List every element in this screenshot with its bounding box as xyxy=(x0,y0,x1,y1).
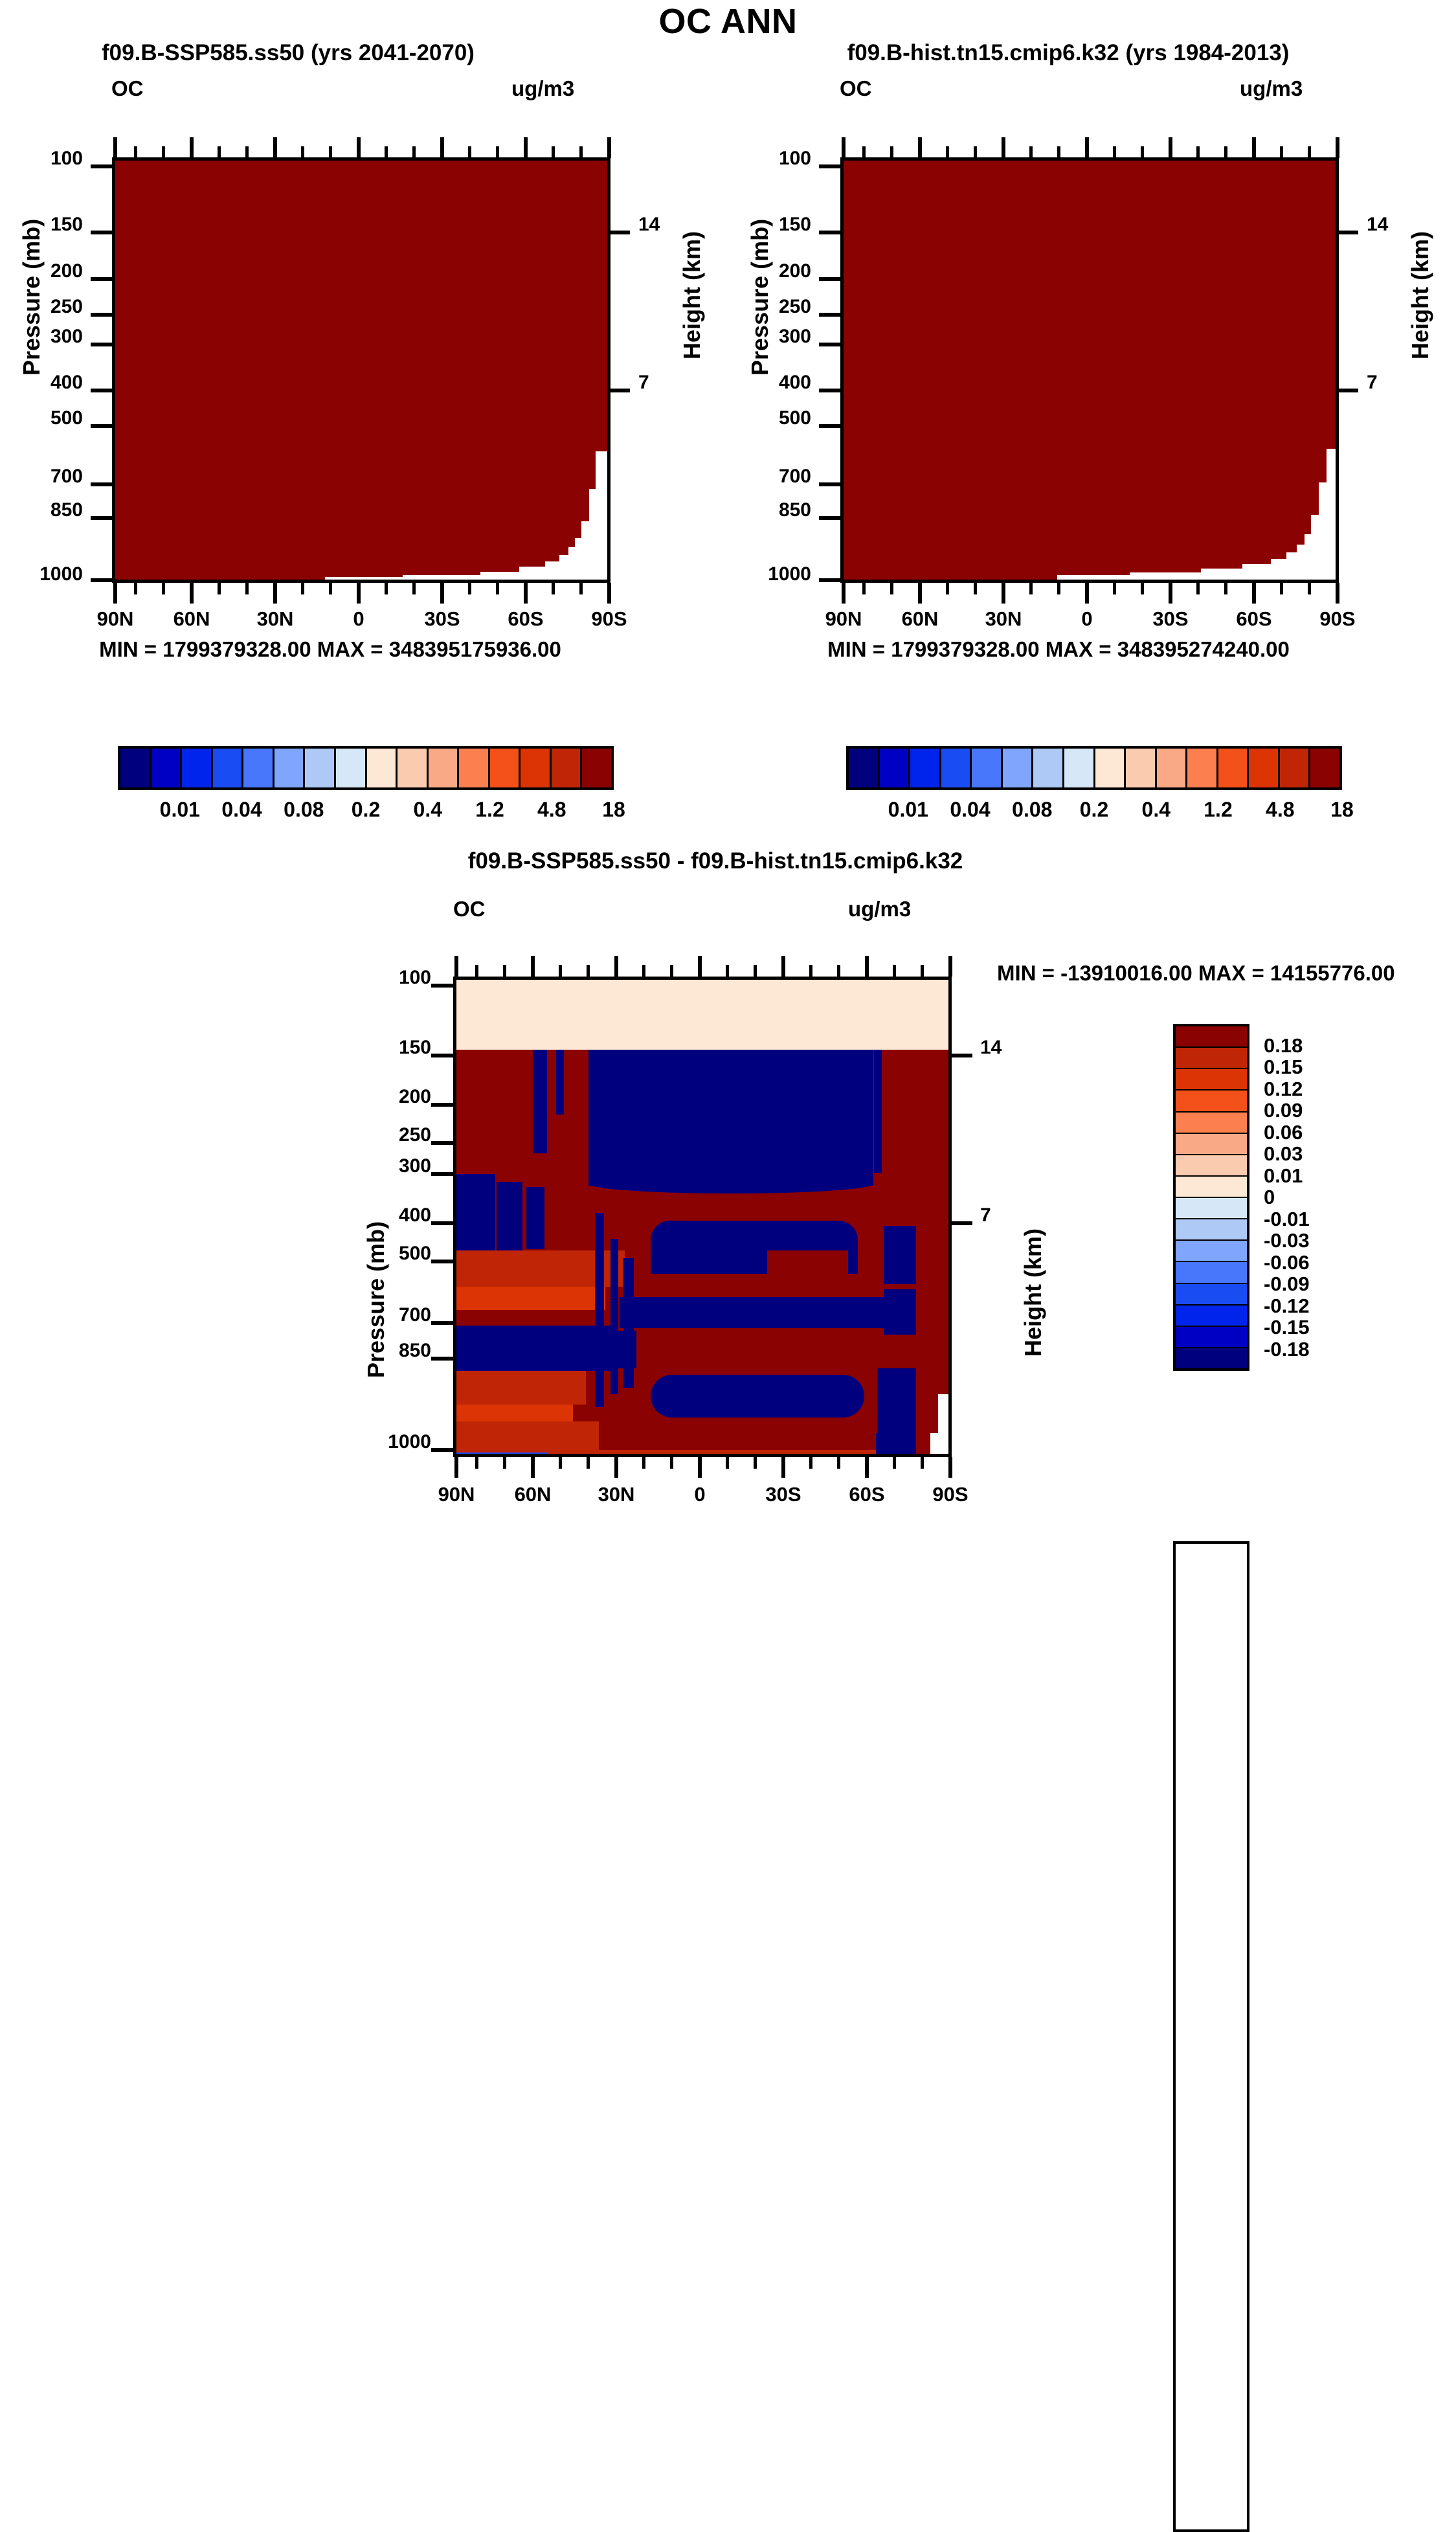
vbar-label-2: 0.12 xyxy=(1264,1078,1303,1101)
cbar-label-6: 4.8 xyxy=(1266,798,1294,822)
xtick-60N: 60N xyxy=(881,607,959,631)
panel-top-right-plot-area xyxy=(840,157,1339,447)
colorbar-diff-bar xyxy=(1173,1024,1249,1371)
panel-top-right-corner-units: ug/m3 xyxy=(1240,76,1303,101)
cbar-label-1: 0.04 xyxy=(950,798,990,822)
ytick-850: 850 xyxy=(753,499,811,521)
height-tick-7: 7 xyxy=(638,372,649,394)
ytick-1000: 1000 xyxy=(9,563,83,585)
cbar-label-4: 0.4 xyxy=(414,798,442,822)
ytick-100: 100 xyxy=(363,967,431,989)
panel-top-right-plot-area-lower xyxy=(840,444,1339,583)
panel-top-left-corner-variable: OC xyxy=(111,76,144,101)
ytick-700: 700 xyxy=(363,1304,431,1326)
panel-top-left-plot-area xyxy=(112,157,610,447)
xtick-90S: 90S xyxy=(1299,607,1376,631)
xtick-30S: 30S xyxy=(1132,607,1209,631)
xtick-60N: 60N xyxy=(494,1483,572,1506)
ytick-150: 150 xyxy=(25,214,83,236)
ytick-100: 100 xyxy=(25,148,83,170)
ytick-400: 400 xyxy=(25,372,83,394)
ytick-250: 250 xyxy=(363,1124,431,1146)
ytick-500: 500 xyxy=(753,407,811,429)
ytick-mark xyxy=(91,424,112,428)
panel-top-left-title: f09.B-SSP585.ss50 (yrs 2041-2070) xyxy=(0,40,576,66)
height-tick-14: 14 xyxy=(638,214,660,236)
xtick-30N: 30N xyxy=(965,607,1042,631)
ytick-1000: 1000 xyxy=(737,563,811,585)
vbar-label-4: 0.06 xyxy=(1264,1121,1303,1144)
xtick-90S: 90S xyxy=(912,1483,989,1506)
panel-top-left-corner-units: ug/m3 xyxy=(511,76,574,101)
ytick-500: 500 xyxy=(25,407,83,429)
vbar-label-7: 0 xyxy=(1264,1186,1275,1209)
panel-top-left-minmax: MIN = 1799379328.00 MAX = 348395175936.0… xyxy=(0,637,660,662)
panel-top-right: f09.B-hist.tn15.cmip6.k32 (yrs 1984-2013… xyxy=(728,0,1456,803)
cbar-label-3: 0.2 xyxy=(352,798,380,822)
cbar-label-2: 0.08 xyxy=(284,798,324,822)
cbar-label-7: 18 xyxy=(602,798,625,822)
panel-bottom-diff-title: f09.B-SSP585.ss50 - f09.B-hist.tn15.cmip… xyxy=(363,848,1068,874)
cbar-label-6: 4.8 xyxy=(537,798,566,822)
panel-top-left-plot-area-lower xyxy=(112,444,610,583)
panel-top-right-ylabel-height: Height (km) xyxy=(1407,231,1434,359)
vbar-label-1: 0.15 xyxy=(1264,1056,1303,1079)
ytick-mark xyxy=(91,578,112,582)
ytick-1000: 1000 xyxy=(346,1431,431,1453)
colorbar-top-right-labels: 0.01 0.04 0.08 0.2 0.4 1.2 4.8 18 xyxy=(846,798,1342,824)
vbar-label-3: 0.09 xyxy=(1264,1099,1303,1122)
cbar-label-0: 0.01 xyxy=(888,798,928,822)
ytick-700: 700 xyxy=(25,466,83,488)
vbar-label-8: -0.01 xyxy=(1264,1208,1310,1231)
ytick-500: 500 xyxy=(363,1243,431,1265)
cbar-label-5: 1.2 xyxy=(475,798,504,822)
height-tick-14: 14 xyxy=(980,1037,1002,1059)
ytick-400: 400 xyxy=(363,1204,431,1226)
xtick-0: 0 xyxy=(1048,607,1126,631)
panel-bottom-diff-corner-variable: OC xyxy=(453,897,486,921)
panel-bottom-diff-plot-area xyxy=(453,977,952,1457)
xtick-60S: 60S xyxy=(1215,607,1293,631)
ytick-150: 150 xyxy=(753,214,811,236)
height-tick-7: 7 xyxy=(980,1204,991,1226)
panel-top-left: f09.B-SSP585.ss50 (yrs 2041-2070) OC ug/… xyxy=(0,0,728,803)
colorbar-top-right xyxy=(846,746,1342,790)
ytick-mark xyxy=(91,277,112,281)
colorbar-diff xyxy=(1173,1541,1249,2532)
xtick-60S: 60S xyxy=(487,607,565,631)
vbar-label-10: -0.06 xyxy=(1264,1251,1310,1274)
ytick-200: 200 xyxy=(363,1086,431,1108)
xtick-60S: 60S xyxy=(828,1483,906,1506)
colorbar-top-left xyxy=(118,746,614,790)
ytick-850: 850 xyxy=(363,1340,431,1362)
xtick-30N: 30N xyxy=(577,1483,655,1506)
panel-bottom-diff-corner-units: ug/m3 xyxy=(848,897,911,921)
ytick-200: 200 xyxy=(753,260,811,282)
ytick-mark xyxy=(91,164,112,168)
vbar-label-12: -0.12 xyxy=(1264,1294,1310,1318)
ytick-850: 850 xyxy=(25,499,83,521)
xtick-90S: 90S xyxy=(570,607,648,631)
ytick-250: 250 xyxy=(25,296,83,318)
ytick-200: 200 xyxy=(25,260,83,282)
ytick-250: 250 xyxy=(753,296,811,318)
ytick-300: 300 xyxy=(753,326,811,348)
vbar-label-14: -0.18 xyxy=(1264,1338,1310,1361)
ytick-mark xyxy=(91,516,112,520)
xtick-90N: 90N xyxy=(805,607,882,631)
cbar-label-7: 18 xyxy=(1330,798,1354,822)
xtick-90N: 90N xyxy=(418,1483,495,1506)
cbar-label-3: 0.2 xyxy=(1080,798,1108,822)
cbar-label-0: 0.01 xyxy=(160,798,200,822)
cbar-label-4: 0.4 xyxy=(1142,798,1170,822)
vbar-label-5: 0.03 xyxy=(1264,1142,1303,1166)
vbar-label-13: -0.15 xyxy=(1264,1316,1310,1339)
vbar-label-9: -0.03 xyxy=(1264,1229,1310,1252)
vbar-label-0: 0.18 xyxy=(1264,1034,1303,1057)
xtick-90N: 90N xyxy=(76,607,154,631)
ytick-mark xyxy=(91,389,112,392)
ytick-300: 300 xyxy=(25,326,83,348)
panel-bottom-diff-minmax: MIN = -13910016.00 MAX = 14155776.00 xyxy=(997,961,1450,986)
ytick-100: 100 xyxy=(753,148,811,170)
colorbar-diff-labels: 0.18 0.15 0.12 0.09 0.06 0.03 0.01 0 -0.… xyxy=(1264,1024,1432,1371)
xtick-30S: 30S xyxy=(403,607,481,631)
xtick-60N: 60N xyxy=(153,607,230,631)
panel-top-right-minmax: MIN = 1799379328.00 MAX = 348395274240.0… xyxy=(728,637,1389,662)
ytick-400: 400 xyxy=(753,372,811,394)
ytick-700: 700 xyxy=(753,466,811,488)
colorbar-top-left-labels: 0.01 0.04 0.08 0.2 0.4 1.2 4.8 18 xyxy=(118,798,614,824)
xtick-0: 0 xyxy=(320,607,398,631)
panel-top-left-ylabel-height: Height (km) xyxy=(678,231,706,359)
cbar-label-1: 0.04 xyxy=(221,798,262,822)
ytick-mark xyxy=(91,343,112,346)
xtick-30S: 30S xyxy=(745,1483,822,1506)
xtick-30N: 30N xyxy=(236,607,314,631)
ytick-mark xyxy=(91,313,112,317)
panel-top-right-title: f09.B-hist.tn15.cmip6.k32 (yrs 1984-2013… xyxy=(728,40,1408,66)
height-tick-mark xyxy=(610,231,630,234)
cbar-label-2: 0.08 xyxy=(1012,798,1052,822)
ytick-300: 300 xyxy=(363,1155,431,1177)
height-tick-mark xyxy=(610,389,630,392)
cbar-label-5: 1.2 xyxy=(1204,798,1232,822)
vbar-label-6: 0.01 xyxy=(1264,1164,1303,1188)
xtick-0: 0 xyxy=(661,1483,739,1506)
height-tick-14: 14 xyxy=(1367,214,1388,236)
ytick-150: 150 xyxy=(363,1037,431,1059)
vbar-label-11: -0.09 xyxy=(1264,1272,1310,1296)
panel-bottom-diff-ylabel-height: Height (km) xyxy=(1020,1228,1047,1357)
panel-top-right-corner-variable: OC xyxy=(840,76,872,101)
ytick-mark xyxy=(91,482,112,486)
ytick-mark xyxy=(91,231,112,234)
height-tick-7: 7 xyxy=(1367,372,1378,394)
